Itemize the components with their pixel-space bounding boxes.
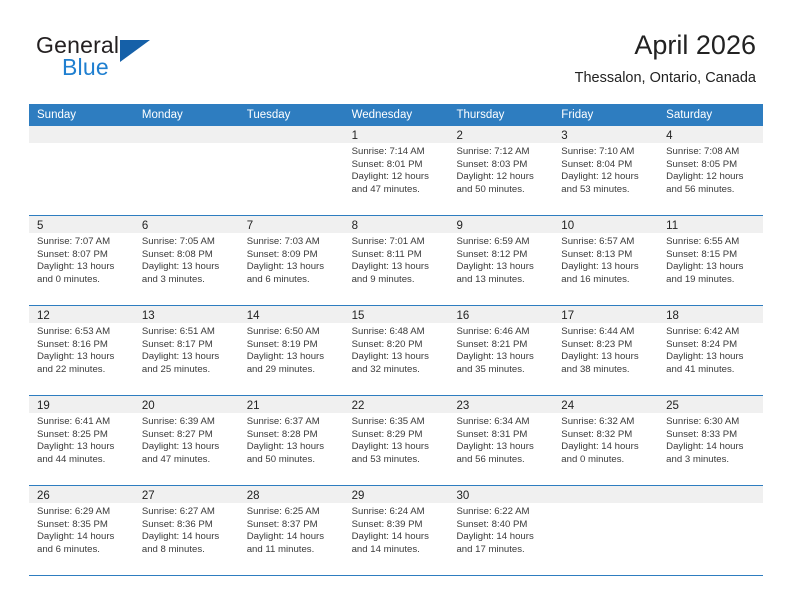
day-cell[interactable]: 29 Sunrise: 6:24 AM Sunset: 8:39 PM Dayl… <box>344 486 449 575</box>
day-info: Sunrise: 7:05 AM Sunset: 8:08 PM Dayligh… <box>134 233 239 286</box>
daylight-text-line1: Daylight: 12 hours <box>666 171 757 184</box>
sunrise-text: Sunrise: 7:08 AM <box>666 146 757 159</box>
sunrise-text: Sunrise: 6:42 AM <box>666 326 757 339</box>
day-number: 24 <box>553 400 574 412</box>
day-cell[interactable]: 12 Sunrise: 6:53 AM Sunset: 8:16 PM Dayl… <box>29 306 134 395</box>
daylight-text-line1: Daylight: 13 hours <box>247 351 338 364</box>
sunset-text: Sunset: 8:39 PM <box>352 519 443 532</box>
daylight-text-line1: Daylight: 13 hours <box>247 441 338 454</box>
daylight-text-line1: Daylight: 13 hours <box>37 351 128 364</box>
sunset-text: Sunset: 8:23 PM <box>561 339 652 352</box>
day-number: 19 <box>29 400 50 412</box>
daylight-text-line1: Daylight: 14 hours <box>37 531 128 544</box>
sunset-text: Sunset: 8:40 PM <box>456 519 547 532</box>
week-row: 12 Sunrise: 6:53 AM Sunset: 8:16 PM Dayl… <box>29 306 763 396</box>
day-cell[interactable]: 27 Sunrise: 6:27 AM Sunset: 8:36 PM Dayl… <box>134 486 239 575</box>
day-info: Sunrise: 7:10 AM Sunset: 8:04 PM Dayligh… <box>553 143 658 196</box>
day-number-strip: 12 <box>29 306 134 323</box>
sunset-text: Sunset: 8:04 PM <box>561 159 652 172</box>
weekday-header-wednesday: Wednesday <box>344 104 449 126</box>
sunrise-text: Sunrise: 6:39 AM <box>142 416 233 429</box>
weekday-header-sunday: Sunday <box>29 104 134 126</box>
sunset-text: Sunset: 8:15 PM <box>666 249 757 262</box>
daylight-text-line2: and 3 minutes. <box>142 274 233 287</box>
day-info: Sunrise: 6:22 AM Sunset: 8:40 PM Dayligh… <box>448 503 553 556</box>
day-cell[interactable]: 8 Sunrise: 7:01 AM Sunset: 8:11 PM Dayli… <box>344 216 449 305</box>
daylight-text-line2: and 19 minutes. <box>666 274 757 287</box>
day-number-strip <box>553 486 658 503</box>
day-number: 16 <box>448 310 469 322</box>
daylight-text-line2: and 0 minutes. <box>561 454 652 467</box>
daylight-text-line1: Daylight: 13 hours <box>352 351 443 364</box>
daylight-text-line1: Daylight: 13 hours <box>352 261 443 274</box>
day-number: 20 <box>134 400 155 412</box>
daylight-text-line1: Daylight: 14 hours <box>142 531 233 544</box>
day-info: Sunrise: 6:53 AM Sunset: 8:16 PM Dayligh… <box>29 323 134 376</box>
day-number: 7 <box>239 220 253 232</box>
week-row: 5 Sunrise: 7:07 AM Sunset: 8:07 PM Dayli… <box>29 216 763 306</box>
sunset-text: Sunset: 8:33 PM <box>666 429 757 442</box>
daylight-text-line1: Daylight: 13 hours <box>37 261 128 274</box>
day-cell[interactable]: 17 Sunrise: 6:44 AM Sunset: 8:23 PM Dayl… <box>553 306 658 395</box>
day-number: 15 <box>344 310 365 322</box>
sunrise-text: Sunrise: 7:03 AM <box>247 236 338 249</box>
day-cell[interactable]: 3 Sunrise: 7:10 AM Sunset: 8:04 PM Dayli… <box>553 126 658 215</box>
day-number: 17 <box>553 310 574 322</box>
day-number-strip: 28 <box>239 486 344 503</box>
daylight-text-line1: Daylight: 13 hours <box>352 441 443 454</box>
sunset-text: Sunset: 8:31 PM <box>456 429 547 442</box>
daylight-text-line1: Daylight: 13 hours <box>142 441 233 454</box>
day-number-strip: 14 <box>239 306 344 323</box>
day-cell[interactable] <box>658 486 763 575</box>
day-number: 22 <box>344 400 365 412</box>
day-number-strip: 23 <box>448 396 553 413</box>
calendar-grid: Sunday Monday Tuesday Wednesday Thursday… <box>29 104 763 576</box>
sunset-text: Sunset: 8:07 PM <box>37 249 128 262</box>
day-number-strip: 11 <box>658 216 763 233</box>
day-number: 21 <box>239 400 260 412</box>
day-number-strip: 9 <box>448 216 553 233</box>
daylight-text-line2: and 41 minutes. <box>666 364 757 377</box>
weekday-header-row: Sunday Monday Tuesday Wednesday Thursday… <box>29 104 763 126</box>
week-row: 26 Sunrise: 6:29 AM Sunset: 8:35 PM Dayl… <box>29 486 763 576</box>
weekday-header-tuesday: Tuesday <box>239 104 344 126</box>
daylight-text-line1: Daylight: 14 hours <box>352 531 443 544</box>
sunset-text: Sunset: 8:27 PM <box>142 429 233 442</box>
sunrise-text: Sunrise: 6:25 AM <box>247 506 338 519</box>
sunrise-text: Sunrise: 6:55 AM <box>666 236 757 249</box>
day-info: Sunrise: 6:32 AM Sunset: 8:32 PM Dayligh… <box>553 413 658 466</box>
daylight-text-line1: Daylight: 14 hours <box>456 531 547 544</box>
weekday-header-monday: Monday <box>134 104 239 126</box>
calendar-page: General Blue April 2026 Thessalon, Ontar… <box>0 0 792 612</box>
sunset-text: Sunset: 8:12 PM <box>456 249 547 262</box>
day-cell[interactable]: 24 Sunrise: 6:32 AM Sunset: 8:32 PM Dayl… <box>553 396 658 485</box>
day-cell[interactable]: 25 Sunrise: 6:30 AM Sunset: 8:33 PM Dayl… <box>658 396 763 485</box>
day-number-strip: 18 <box>658 306 763 323</box>
day-cell[interactable]: 18 Sunrise: 6:42 AM Sunset: 8:24 PM Dayl… <box>658 306 763 395</box>
day-number: 8 <box>344 220 358 232</box>
day-number: 9 <box>448 220 462 232</box>
sunrise-text: Sunrise: 6:48 AM <box>352 326 443 339</box>
day-cell[interactable] <box>239 126 344 215</box>
day-info: Sunrise: 7:08 AM Sunset: 8:05 PM Dayligh… <box>658 143 763 196</box>
day-cell[interactable] <box>134 126 239 215</box>
day-number: 26 <box>29 490 50 502</box>
day-cell[interactable]: 13 Sunrise: 6:51 AM Sunset: 8:17 PM Dayl… <box>134 306 239 395</box>
sunrise-text: Sunrise: 6:27 AM <box>142 506 233 519</box>
day-cell[interactable]: 4 Sunrise: 7:08 AM Sunset: 8:05 PM Dayli… <box>658 126 763 215</box>
day-info: Sunrise: 6:25 AM Sunset: 8:37 PM Dayligh… <box>239 503 344 556</box>
day-info: Sunrise: 6:41 AM Sunset: 8:25 PM Dayligh… <box>29 413 134 466</box>
day-number-strip: 15 <box>344 306 449 323</box>
sunrise-text: Sunrise: 6:59 AM <box>456 236 547 249</box>
day-cell[interactable]: 23 Sunrise: 6:34 AM Sunset: 8:31 PM Dayl… <box>448 396 553 485</box>
daylight-text-line2: and 6 minutes. <box>247 274 338 287</box>
day-info <box>239 143 344 146</box>
day-info: Sunrise: 6:51 AM Sunset: 8:17 PM Dayligh… <box>134 323 239 376</box>
day-cell[interactable]: 22 Sunrise: 6:35 AM Sunset: 8:29 PM Dayl… <box>344 396 449 485</box>
brand-logo[interactable]: General Blue <box>36 32 236 88</box>
day-cell[interactable]: 20 Sunrise: 6:39 AM Sunset: 8:27 PM Dayl… <box>134 396 239 485</box>
daylight-text-line1: Daylight: 13 hours <box>247 261 338 274</box>
daylight-text-line2: and 17 minutes. <box>456 544 547 557</box>
daylight-text-line2: and 44 minutes. <box>37 454 128 467</box>
day-number-strip: 22 <box>344 396 449 413</box>
day-number: 3 <box>553 130 567 142</box>
sunrise-text: Sunrise: 6:50 AM <box>247 326 338 339</box>
day-number: 23 <box>448 400 469 412</box>
sunrise-text: Sunrise: 6:57 AM <box>561 236 652 249</box>
daylight-text-line2: and 22 minutes. <box>37 364 128 377</box>
daylight-text-line1: Daylight: 13 hours <box>561 351 652 364</box>
day-cell[interactable]: 6 Sunrise: 7:05 AM Sunset: 8:08 PM Dayli… <box>134 216 239 305</box>
day-info: Sunrise: 6:42 AM Sunset: 8:24 PM Dayligh… <box>658 323 763 376</box>
day-info: Sunrise: 6:46 AM Sunset: 8:21 PM Dayligh… <box>448 323 553 376</box>
daylight-text-line2: and 0 minutes. <box>37 274 128 287</box>
day-number-strip <box>134 126 239 143</box>
day-info: Sunrise: 6:48 AM Sunset: 8:20 PM Dayligh… <box>344 323 449 376</box>
day-number <box>134 130 142 142</box>
day-number-strip <box>658 486 763 503</box>
daylight-text-line1: Daylight: 13 hours <box>142 351 233 364</box>
sunset-text: Sunset: 8:20 PM <box>352 339 443 352</box>
sunrise-text: Sunrise: 7:01 AM <box>352 236 443 249</box>
sunset-text: Sunset: 8:25 PM <box>37 429 128 442</box>
day-number: 14 <box>239 310 260 322</box>
day-info: Sunrise: 6:35 AM Sunset: 8:29 PM Dayligh… <box>344 413 449 466</box>
day-number-strip <box>29 126 134 143</box>
daylight-text-line1: Daylight: 13 hours <box>456 261 547 274</box>
weekday-header-thursday: Thursday <box>448 104 553 126</box>
daylight-text-line2: and 11 minutes. <box>247 544 338 557</box>
day-number: 4 <box>658 130 672 142</box>
day-number-strip: 16 <box>448 306 553 323</box>
sunrise-text: Sunrise: 6:22 AM <box>456 506 547 519</box>
daylight-text-line2: and 25 minutes. <box>142 364 233 377</box>
day-number-strip: 8 <box>344 216 449 233</box>
sunrise-text: Sunrise: 7:05 AM <box>142 236 233 249</box>
day-cell[interactable]: 5 Sunrise: 7:07 AM Sunset: 8:07 PM Dayli… <box>29 216 134 305</box>
sunrise-text: Sunrise: 6:30 AM <box>666 416 757 429</box>
page-title: April 2026 <box>575 28 756 62</box>
day-cell[interactable]: 30 Sunrise: 6:22 AM Sunset: 8:40 PM Dayl… <box>448 486 553 575</box>
day-number: 29 <box>344 490 365 502</box>
day-number-strip: 13 <box>134 306 239 323</box>
day-number: 28 <box>239 490 260 502</box>
day-info: Sunrise: 7:12 AM Sunset: 8:03 PM Dayligh… <box>448 143 553 196</box>
daylight-text-line1: Daylight: 13 hours <box>456 351 547 364</box>
daylight-text-line2: and 53 minutes. <box>561 184 652 197</box>
sunset-text: Sunset: 8:35 PM <box>37 519 128 532</box>
day-cell[interactable]: 16 Sunrise: 6:46 AM Sunset: 8:21 PM Dayl… <box>448 306 553 395</box>
daylight-text-line2: and 56 minutes. <box>666 184 757 197</box>
daylight-text-line1: Daylight: 12 hours <box>561 171 652 184</box>
sunset-text: Sunset: 8:29 PM <box>352 429 443 442</box>
day-info: Sunrise: 7:01 AM Sunset: 8:11 PM Dayligh… <box>344 233 449 286</box>
daylight-text-line1: Daylight: 14 hours <box>666 441 757 454</box>
daylight-text-line2: and 14 minutes. <box>352 544 443 557</box>
page-header: General Blue April 2026 Thessalon, Ontar… <box>0 0 792 96</box>
day-number <box>553 490 561 502</box>
day-number: 25 <box>658 400 679 412</box>
sunrise-text: Sunrise: 6:44 AM <box>561 326 652 339</box>
sunrise-text: Sunrise: 6:24 AM <box>352 506 443 519</box>
day-number: 6 <box>134 220 148 232</box>
day-number-strip: 6 <box>134 216 239 233</box>
day-number-strip: 4 <box>658 126 763 143</box>
day-cell[interactable]: 28 Sunrise: 6:25 AM Sunset: 8:37 PM Dayl… <box>239 486 344 575</box>
sunset-text: Sunset: 8:21 PM <box>456 339 547 352</box>
day-number-strip: 17 <box>553 306 658 323</box>
sunset-text: Sunset: 8:09 PM <box>247 249 338 262</box>
day-number <box>239 130 247 142</box>
day-number-strip: 7 <box>239 216 344 233</box>
day-info: Sunrise: 6:37 AM Sunset: 8:28 PM Dayligh… <box>239 413 344 466</box>
daylight-text-line2: and 3 minutes. <box>666 454 757 467</box>
weekday-header-saturday: Saturday <box>658 104 763 126</box>
day-info <box>553 503 658 506</box>
day-info: Sunrise: 6:27 AM Sunset: 8:36 PM Dayligh… <box>134 503 239 556</box>
day-number: 1 <box>344 130 358 142</box>
daylight-text-line2: and 16 minutes. <box>561 274 652 287</box>
day-cell[interactable]: 7 Sunrise: 7:03 AM Sunset: 8:09 PM Dayli… <box>239 216 344 305</box>
sunrise-text: Sunrise: 6:35 AM <box>352 416 443 429</box>
week-row: 19 Sunrise: 6:41 AM Sunset: 8:25 PM Dayl… <box>29 396 763 486</box>
day-number-strip <box>239 126 344 143</box>
day-cell[interactable]: 11 Sunrise: 6:55 AM Sunset: 8:15 PM Dayl… <box>658 216 763 305</box>
sunset-text: Sunset: 8:36 PM <box>142 519 233 532</box>
day-number-strip: 10 <box>553 216 658 233</box>
day-cell[interactable]: 21 Sunrise: 6:37 AM Sunset: 8:28 PM Dayl… <box>239 396 344 485</box>
sunset-text: Sunset: 8:03 PM <box>456 159 547 172</box>
daylight-text-line2: and 8 minutes. <box>142 544 233 557</box>
sunrise-text: Sunrise: 6:32 AM <box>561 416 652 429</box>
day-number-strip: 30 <box>448 486 553 503</box>
daylight-text-line2: and 53 minutes. <box>352 454 443 467</box>
daylight-text-line1: Daylight: 12 hours <box>352 171 443 184</box>
day-info: Sunrise: 6:39 AM Sunset: 8:27 PM Dayligh… <box>134 413 239 466</box>
triangle-flag-icon <box>120 40 150 62</box>
day-cell[interactable]: 2 Sunrise: 7:12 AM Sunset: 8:03 PM Dayli… <box>448 126 553 215</box>
day-info: Sunrise: 6:29 AM Sunset: 8:35 PM Dayligh… <box>29 503 134 556</box>
day-number-strip: 29 <box>344 486 449 503</box>
day-number: 12 <box>29 310 50 322</box>
daylight-text-line1: Daylight: 13 hours <box>142 261 233 274</box>
day-number: 2 <box>448 130 462 142</box>
day-info: Sunrise: 6:59 AM Sunset: 8:12 PM Dayligh… <box>448 233 553 286</box>
day-number: 11 <box>658 220 678 232</box>
sunset-text: Sunset: 8:24 PM <box>666 339 757 352</box>
day-number-strip: 27 <box>134 486 239 503</box>
day-number-strip: 24 <box>553 396 658 413</box>
daylight-text-line2: and 50 minutes. <box>456 184 547 197</box>
sunrise-text: Sunrise: 7:07 AM <box>37 236 128 249</box>
day-cell[interactable]: 10 Sunrise: 6:57 AM Sunset: 8:13 PM Dayl… <box>553 216 658 305</box>
daylight-text-line2: and 56 minutes. <box>456 454 547 467</box>
day-number-strip: 5 <box>29 216 134 233</box>
day-info: Sunrise: 6:30 AM Sunset: 8:33 PM Dayligh… <box>658 413 763 466</box>
day-number: 18 <box>658 310 679 322</box>
day-cell[interactable]: 15 Sunrise: 6:48 AM Sunset: 8:20 PM Dayl… <box>344 306 449 395</box>
sunrise-text: Sunrise: 6:46 AM <box>456 326 547 339</box>
day-cell[interactable] <box>29 126 134 215</box>
day-cell[interactable]: 1 Sunrise: 7:14 AM Sunset: 8:01 PM Dayli… <box>344 126 449 215</box>
daylight-text-line2: and 6 minutes. <box>37 544 128 557</box>
daylight-text-line2: and 13 minutes. <box>456 274 547 287</box>
sunset-text: Sunset: 8:17 PM <box>142 339 233 352</box>
daylight-text-line2: and 35 minutes. <box>456 364 547 377</box>
daylight-text-line1: Daylight: 13 hours <box>456 441 547 454</box>
day-cell[interactable]: 19 Sunrise: 6:41 AM Sunset: 8:25 PM Dayl… <box>29 396 134 485</box>
daylight-text-line1: Daylight: 14 hours <box>561 441 652 454</box>
sunrise-text: Sunrise: 7:14 AM <box>352 146 443 159</box>
sunrise-text: Sunrise: 6:51 AM <box>142 326 233 339</box>
sunrise-text: Sunrise: 7:12 AM <box>456 146 547 159</box>
daylight-text-line1: Daylight: 14 hours <box>247 531 338 544</box>
daylight-text-line2: and 47 minutes. <box>352 184 443 197</box>
sunset-text: Sunset: 8:19 PM <box>247 339 338 352</box>
week-row: 1 Sunrise: 7:14 AM Sunset: 8:01 PM Dayli… <box>29 126 763 216</box>
day-cell[interactable]: 14 Sunrise: 6:50 AM Sunset: 8:19 PM Dayl… <box>239 306 344 395</box>
day-number: 5 <box>29 220 43 232</box>
day-info: Sunrise: 6:44 AM Sunset: 8:23 PM Dayligh… <box>553 323 658 376</box>
daylight-text-line1: Daylight: 13 hours <box>666 351 757 364</box>
day-number: 27 <box>134 490 155 502</box>
sunset-text: Sunset: 8:13 PM <box>561 249 652 262</box>
day-number-strip: 21 <box>239 396 344 413</box>
daylight-text-line2: and 47 minutes. <box>142 454 233 467</box>
day-number <box>658 490 666 502</box>
day-number-strip: 1 <box>344 126 449 143</box>
day-info: Sunrise: 6:55 AM Sunset: 8:15 PM Dayligh… <box>658 233 763 286</box>
day-number-strip: 2 <box>448 126 553 143</box>
weekday-header-friday: Friday <box>553 104 658 126</box>
daylight-text-line1: Daylight: 13 hours <box>666 261 757 274</box>
sunrise-text: Sunrise: 6:34 AM <box>456 416 547 429</box>
day-info: Sunrise: 7:14 AM Sunset: 8:01 PM Dayligh… <box>344 143 449 196</box>
day-info <box>134 143 239 146</box>
sunset-text: Sunset: 8:16 PM <box>37 339 128 352</box>
day-info: Sunrise: 6:24 AM Sunset: 8:39 PM Dayligh… <box>344 503 449 556</box>
day-cell[interactable] <box>553 486 658 575</box>
sunset-text: Sunset: 8:08 PM <box>142 249 233 262</box>
sunset-text: Sunset: 8:32 PM <box>561 429 652 442</box>
daylight-text-line1: Daylight: 12 hours <box>456 171 547 184</box>
daylight-text-line2: and 9 minutes. <box>352 274 443 287</box>
day-info <box>658 503 763 506</box>
day-number: 10 <box>553 220 574 232</box>
day-info: Sunrise: 6:34 AM Sunset: 8:31 PM Dayligh… <box>448 413 553 466</box>
day-number-strip: 26 <box>29 486 134 503</box>
title-block: April 2026 Thessalon, Ontario, Canada <box>575 28 756 89</box>
day-cell[interactable]: 26 Sunrise: 6:29 AM Sunset: 8:35 PM Dayl… <box>29 486 134 575</box>
day-info: Sunrise: 7:07 AM Sunset: 8:07 PM Dayligh… <box>29 233 134 286</box>
daylight-text-line2: and 50 minutes. <box>247 454 338 467</box>
daylight-text-line1: Daylight: 13 hours <box>37 441 128 454</box>
sunset-text: Sunset: 8:11 PM <box>352 249 443 262</box>
sunrise-text: Sunrise: 6:29 AM <box>37 506 128 519</box>
day-number <box>29 130 37 142</box>
day-info: Sunrise: 7:03 AM Sunset: 8:09 PM Dayligh… <box>239 233 344 286</box>
sunset-text: Sunset: 8:01 PM <box>352 159 443 172</box>
daylight-text-line2: and 32 minutes. <box>352 364 443 377</box>
daylight-text-line2: and 29 minutes. <box>247 364 338 377</box>
daylight-text-line1: Daylight: 13 hours <box>561 261 652 274</box>
sunrise-text: Sunrise: 6:37 AM <box>247 416 338 429</box>
page-subtitle-location: Thessalon, Ontario, Canada <box>575 67 756 89</box>
day-number-strip: 25 <box>658 396 763 413</box>
sunset-text: Sunset: 8:05 PM <box>666 159 757 172</box>
sunset-text: Sunset: 8:37 PM <box>247 519 338 532</box>
sunrise-text: Sunrise: 6:53 AM <box>37 326 128 339</box>
day-number-strip: 3 <box>553 126 658 143</box>
daylight-text-line2: and 38 minutes. <box>561 364 652 377</box>
day-info: Sunrise: 6:50 AM Sunset: 8:19 PM Dayligh… <box>239 323 344 376</box>
sunrise-text: Sunrise: 7:10 AM <box>561 146 652 159</box>
day-number: 13 <box>134 310 155 322</box>
day-number-strip: 19 <box>29 396 134 413</box>
day-number: 30 <box>448 490 469 502</box>
day-cell[interactable]: 9 Sunrise: 6:59 AM Sunset: 8:12 PM Dayli… <box>448 216 553 305</box>
day-info: Sunrise: 6:57 AM Sunset: 8:13 PM Dayligh… <box>553 233 658 286</box>
brand-name-blue: Blue <box>62 54 109 81</box>
sunset-text: Sunset: 8:28 PM <box>247 429 338 442</box>
sunrise-text: Sunrise: 6:41 AM <box>37 416 128 429</box>
day-number-strip: 20 <box>134 396 239 413</box>
day-info <box>29 143 134 146</box>
